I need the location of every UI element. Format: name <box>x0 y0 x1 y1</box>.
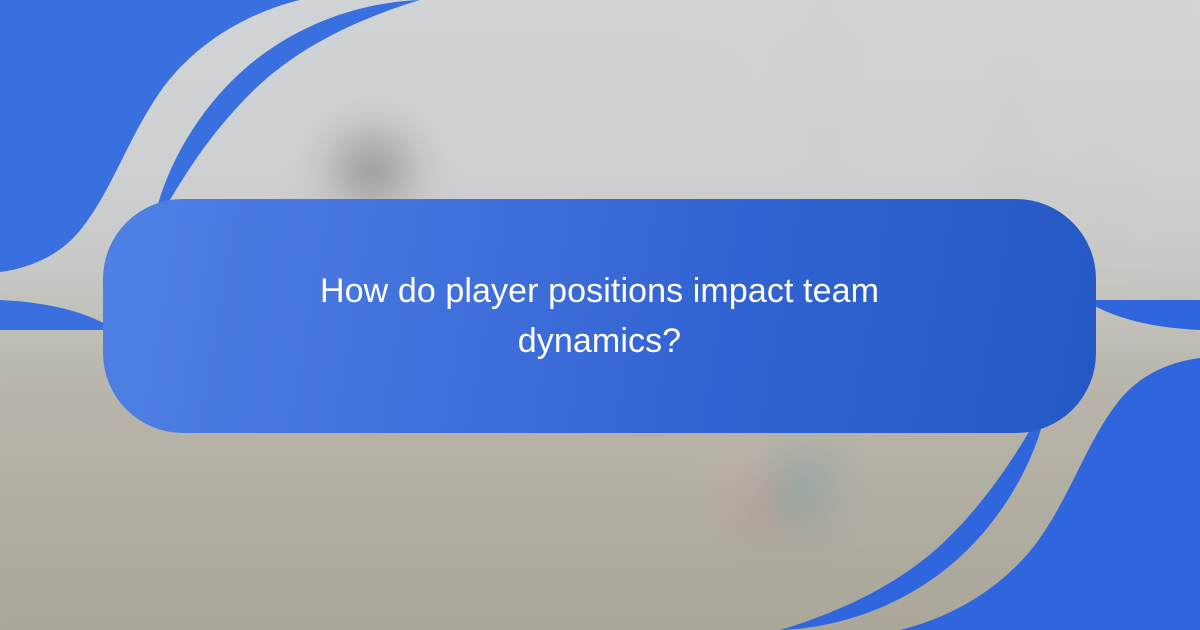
question-card: How do player positions impact team dyna… <box>103 199 1096 433</box>
question-text: How do player positions impact team dyna… <box>270 266 930 366</box>
question-card-canvas: How do player positions impact team dyna… <box>0 0 1200 630</box>
